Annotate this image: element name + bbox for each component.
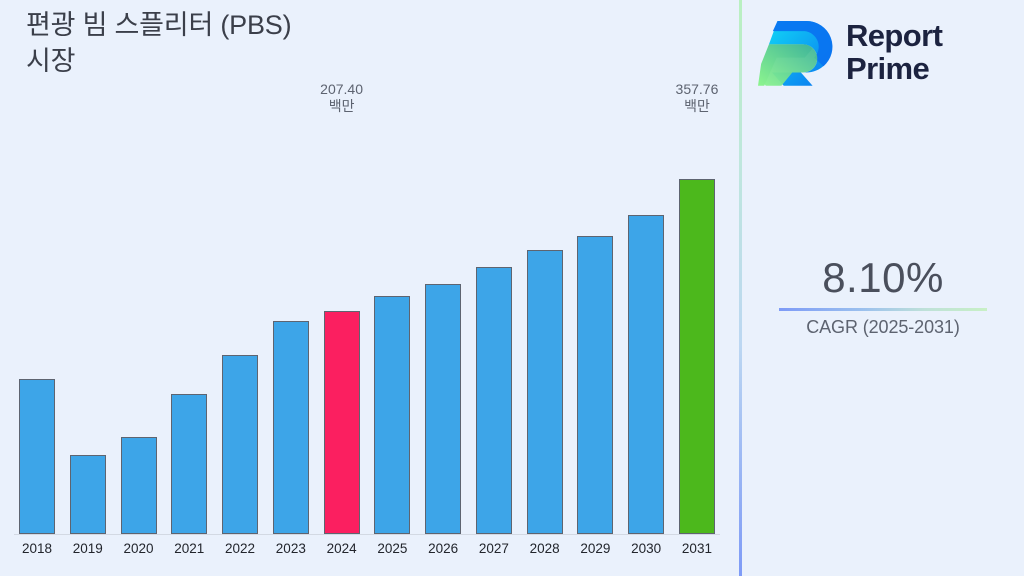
bar-2018[interactable] <box>19 379 55 534</box>
cagr-value: 8.10% <box>742 255 1024 301</box>
bar-group-2021 <box>166 120 212 534</box>
bar-group-2028 <box>522 120 568 534</box>
x-tick-2023: 2023 <box>268 541 314 569</box>
bar-series: 207.40 백만357.76 백만 <box>14 120 720 534</box>
bar-group-2029 <box>572 120 618 534</box>
cagr-divider <box>779 308 987 311</box>
axis-baseline <box>14 534 720 535</box>
x-tick-2029: 2029 <box>572 541 618 569</box>
bar-group-2024: 207.40 백만 <box>319 120 365 534</box>
x-tick-2027: 2027 <box>471 541 517 569</box>
bar-group-2018 <box>14 120 60 534</box>
bar-2025[interactable] <box>374 296 410 534</box>
bar-group-2023 <box>268 120 314 534</box>
bar-group-2022 <box>217 120 263 534</box>
bar-2024[interactable]: 207.40 백만 <box>324 311 360 534</box>
brand-name-line2: Prime <box>846 53 942 86</box>
x-tick-2031: 2031 <box>674 541 720 569</box>
x-tick-2028: 2028 <box>522 541 568 569</box>
x-tick-2022: 2022 <box>217 541 263 569</box>
bar-group-2031: 357.76 백만 <box>674 120 720 534</box>
bar-2026[interactable] <box>425 284 461 534</box>
bar-2027[interactable] <box>476 267 512 534</box>
x-axis-ticks: 2018201920202021202220232024202520262027… <box>14 541 720 569</box>
bar-2023[interactable] <box>273 321 309 534</box>
cagr-block: 8.10% CAGR (2025-2031) <box>742 255 1024 338</box>
x-tick-2024: 2024 <box>319 541 365 569</box>
x-tick-2026: 2026 <box>420 541 466 569</box>
bar-2030[interactable] <box>628 215 664 534</box>
x-tick-2018: 2018 <box>14 541 60 569</box>
x-tick-2020: 2020 <box>116 541 162 569</box>
bar-2031[interactable]: 357.76 백만 <box>679 179 715 534</box>
chart-slide: 편광 빔 스플리터 (PBS) 시장 207.40 백만357.76 백만 20… <box>0 0 1024 576</box>
bar-value-label-2031: 357.76 백만 <box>655 81 739 115</box>
brand-name-line1: Report <box>846 20 942 53</box>
bar-group-2026 <box>420 120 466 534</box>
bar-2028[interactable] <box>527 250 563 534</box>
cagr-label: CAGR (2025-2031) <box>742 317 1024 338</box>
bar-group-2030 <box>623 120 669 534</box>
bar-2020[interactable] <box>121 437 157 534</box>
bar-group-2027 <box>471 120 517 534</box>
bar-2021[interactable] <box>171 394 207 534</box>
x-tick-2025: 2025 <box>369 541 415 569</box>
bar-value-label-2024: 207.40 백만 <box>300 81 384 115</box>
bar-2029[interactable] <box>577 236 613 534</box>
bar-group-2020 <box>116 120 162 534</box>
bar-2019[interactable] <box>70 455 106 534</box>
brand-logo: Report Prime <box>758 8 1008 98</box>
x-tick-2021: 2021 <box>166 541 212 569</box>
bar-2022[interactable] <box>222 355 258 534</box>
brand-name: Report Prime <box>846 20 942 86</box>
bar-chart: 207.40 백만357.76 백만 201820192020202120222… <box>0 0 739 576</box>
info-panel: Report Prime 8.10% CAGR (2025-2031) <box>742 0 1024 576</box>
x-tick-2030: 2030 <box>623 541 669 569</box>
bar-group-2019 <box>65 120 111 534</box>
bar-group-2025 <box>369 120 415 534</box>
x-tick-2019: 2019 <box>65 541 111 569</box>
report-prime-logo-icon <box>758 17 836 89</box>
